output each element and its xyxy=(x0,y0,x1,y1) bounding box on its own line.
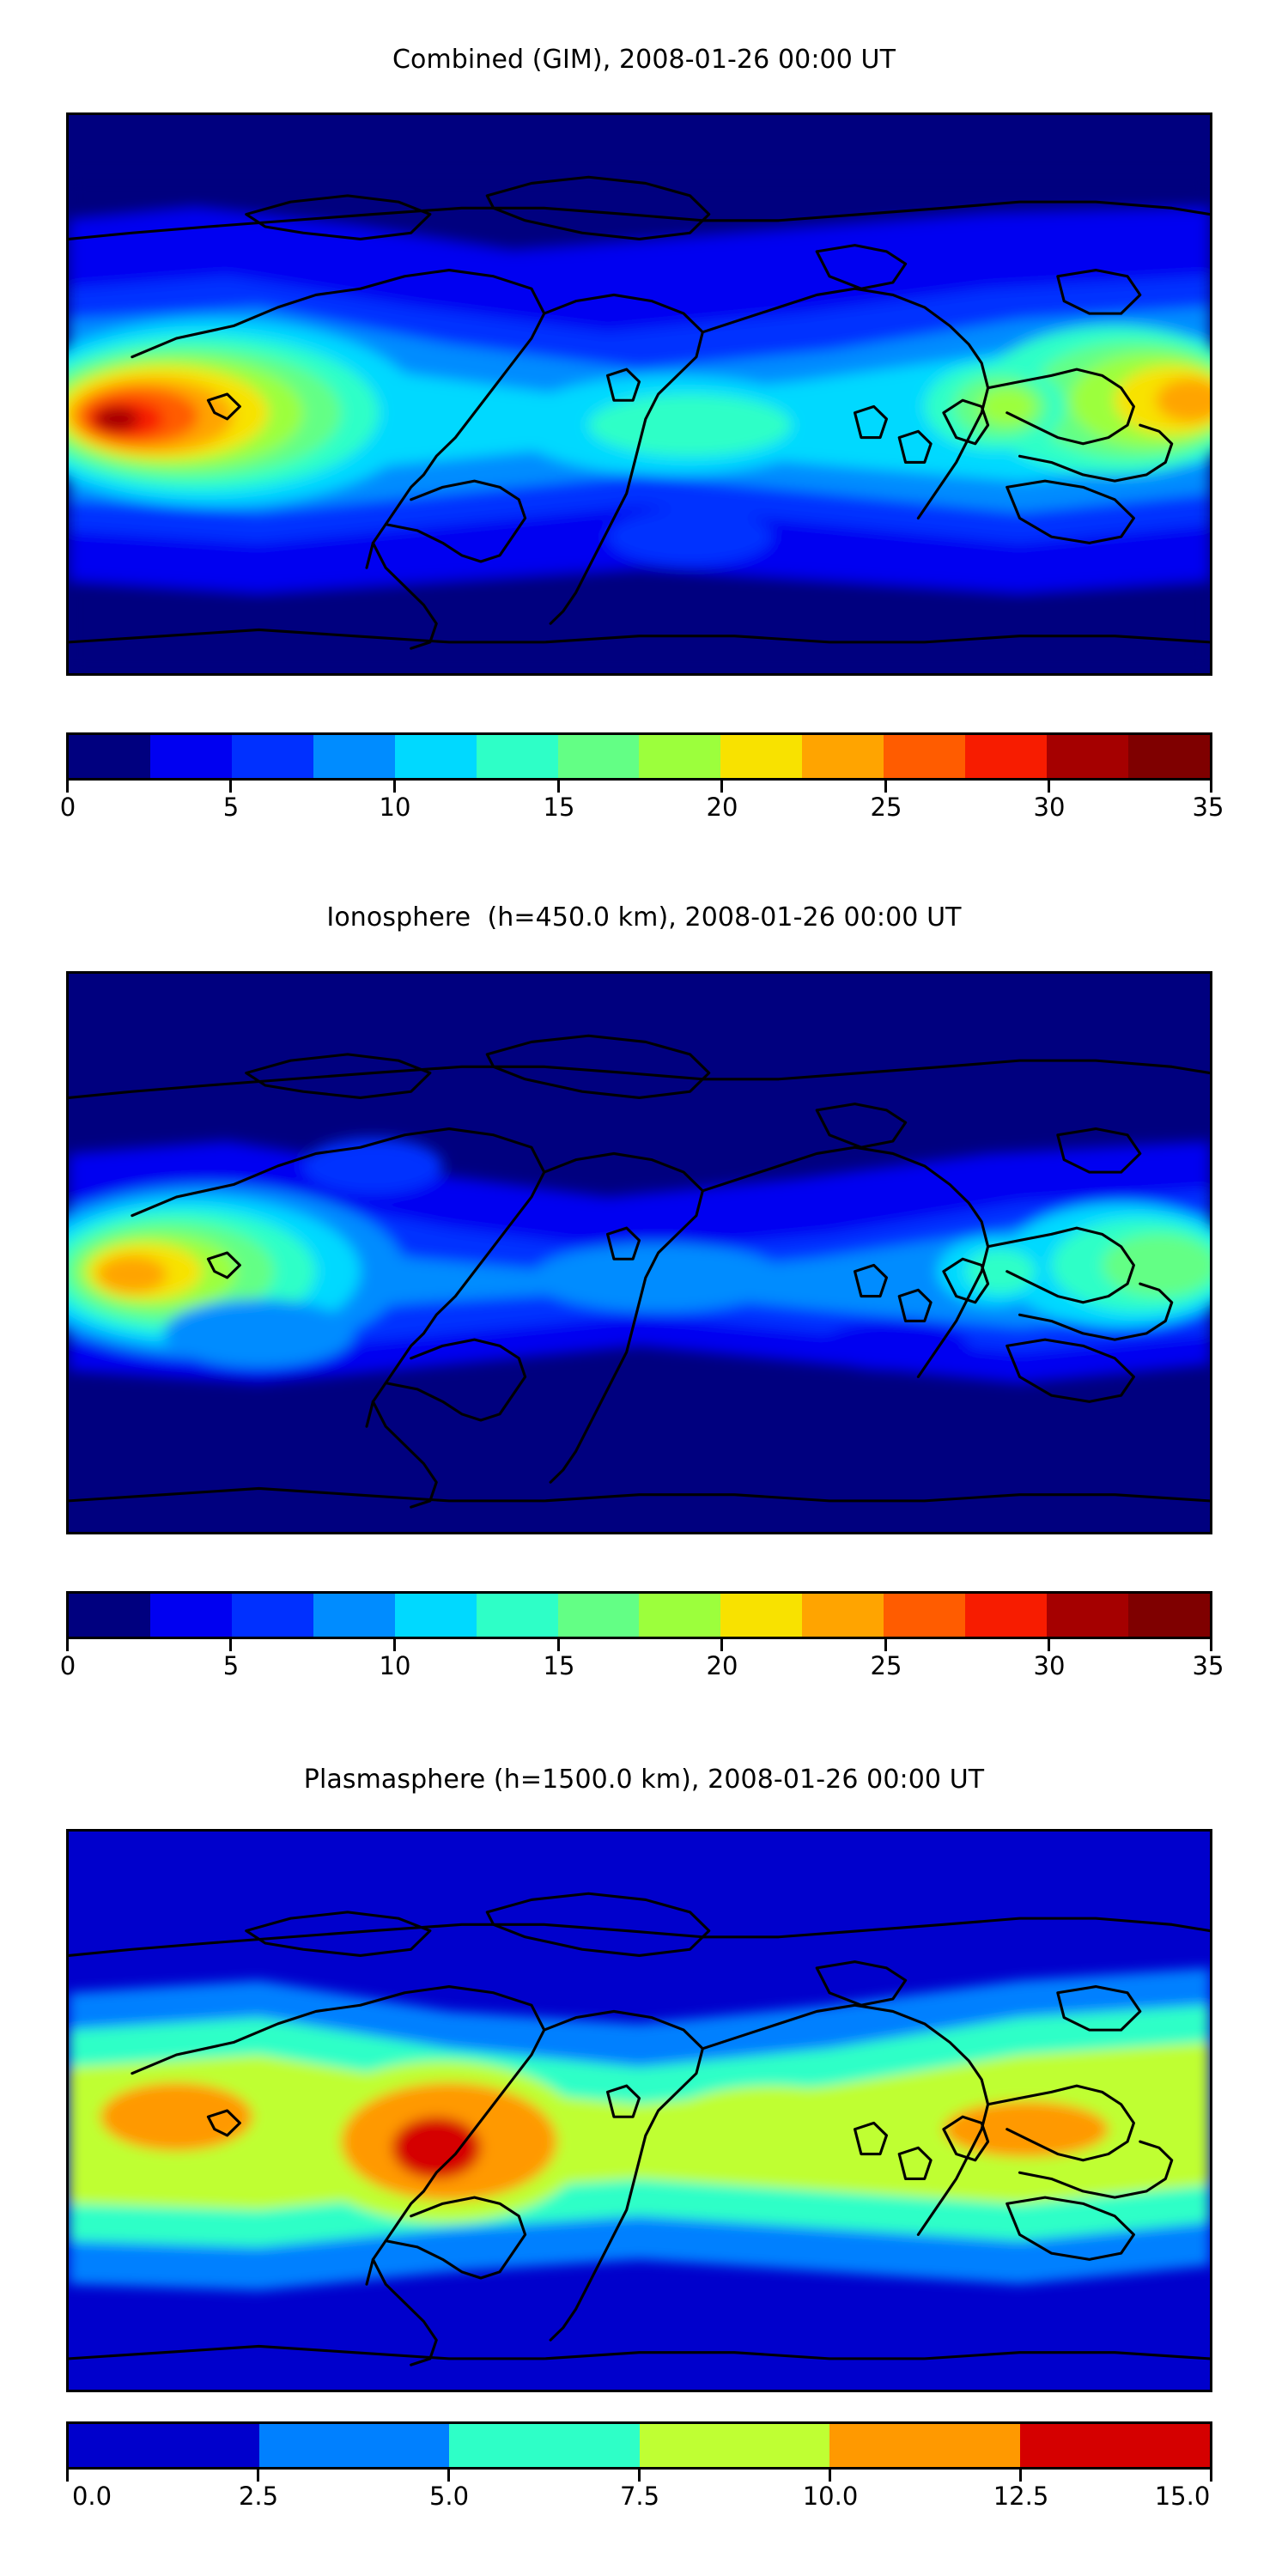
colorbar-swatch xyxy=(558,735,640,778)
colorbar-tick xyxy=(638,2470,641,2482)
colorbar-tick xyxy=(393,781,396,793)
colorbar-tick xyxy=(257,2470,259,2482)
colorbar-tick xyxy=(1048,781,1050,793)
colorbar-ticks-combined-gim xyxy=(66,781,1212,793)
colorbar-tick-label: 15 xyxy=(544,793,575,822)
colorbar-labels-plasmasphere: 0.0 2.5 5.0 7.5 10.0 12.5 15.0 xyxy=(66,2482,1212,2516)
colorbar-swatch xyxy=(1020,2424,1211,2467)
colorbar-tick-label: 7.5 xyxy=(620,2482,659,2511)
colorbar-tick-label: 20 xyxy=(707,793,738,822)
colorbar-tick-label: 25 xyxy=(871,1651,902,1680)
colorbar-swatch xyxy=(965,735,1047,778)
colorbar-labels-combined-gim: 0 5 10 15 20 25 30 35 xyxy=(66,793,1212,827)
panel-title-combined-gim: Combined (GIM), 2008-01-26 00:00 UT xyxy=(0,45,1288,75)
colorbar-tick-label: 5 xyxy=(223,793,239,822)
colorbar-tick xyxy=(720,781,723,793)
colorbar-swatch xyxy=(313,735,395,778)
map-canvas-ionosphere xyxy=(69,974,1210,1532)
colorbar-swatch xyxy=(477,735,558,778)
panel-ionosphere: Ionosphere (h=450.0 km), 2008-01-26 00:0… xyxy=(0,859,1288,1726)
colorbar-swatch xyxy=(395,1594,477,1637)
colorbar-swatch xyxy=(259,2424,450,2467)
colorbar-tick-label: 0 xyxy=(60,793,76,822)
colorbar-swatch xyxy=(802,1594,884,1637)
colorbar-tick xyxy=(66,781,69,793)
panel-title-ionosphere: Ionosphere (h=450.0 km), 2008-01-26 00:0… xyxy=(0,902,1288,933)
colorbar-swatch xyxy=(1047,735,1128,778)
colorbar-swatch xyxy=(1128,1594,1210,1637)
colorbar-tick xyxy=(66,2470,69,2482)
map-combined-gim xyxy=(66,112,1212,676)
colorbar-tick xyxy=(829,2470,831,2482)
colorbar-tick-label: 0 xyxy=(60,1651,76,1680)
colorbar-swatch xyxy=(232,1594,313,1637)
colorbar-swatch xyxy=(640,2424,830,2467)
colorbar-tick xyxy=(720,1639,723,1651)
colorbar-swatch xyxy=(802,735,884,778)
colorbar-swatch xyxy=(1047,1594,1128,1637)
tec-maps-figure: Combined (GIM), 2008-01-26 00:00 UT xyxy=(0,0,1288,2576)
colorbar-swatches-plasmasphere xyxy=(66,2421,1212,2470)
colorbar-swatch xyxy=(150,735,232,778)
colorbar-tick xyxy=(557,1639,560,1651)
colorbar-swatch xyxy=(639,735,720,778)
colorbar-tick-label: 35 xyxy=(1193,793,1224,822)
colorbar-tick xyxy=(557,781,560,793)
colorbar-tick xyxy=(1210,1639,1212,1651)
colorbar-tick xyxy=(447,2470,450,2482)
colorbar-swatch xyxy=(884,1594,965,1637)
colorbar-swatch xyxy=(232,735,313,778)
colorbar-tick xyxy=(1210,781,1212,793)
colorbar-tick xyxy=(393,1639,396,1651)
map-ionosphere xyxy=(66,971,1212,1534)
colorbar-tick-label: 30 xyxy=(1034,1651,1066,1680)
colorbar-swatch xyxy=(477,1594,558,1637)
colorbar-tick-label: 5 xyxy=(223,1651,239,1680)
colorbar-tick xyxy=(1019,2470,1022,2482)
colorbar-swatch xyxy=(69,735,150,778)
colorbar-tick-label: 5.0 xyxy=(429,2482,469,2511)
colorbar-swatch xyxy=(69,2424,259,2467)
colorbar-tick xyxy=(1210,2470,1212,2482)
panel-combined-gim: Combined (GIM), 2008-01-26 00:00 UT xyxy=(0,0,1288,859)
map-canvas-combined-gim xyxy=(69,115,1210,673)
colorbar-tick-label: 10 xyxy=(380,1651,411,1680)
colorbar-labels-ionosphere: 0 5 10 15 20 25 30 35 xyxy=(66,1651,1212,1686)
colorbar-tick xyxy=(1048,1639,1050,1651)
colorbar-tick-label: 20 xyxy=(707,1651,738,1680)
colorbar-tick xyxy=(229,1639,232,1651)
colorbar-tick-label: 30 xyxy=(1034,793,1066,822)
colorbar-tick xyxy=(884,781,887,793)
colorbar-swatch xyxy=(395,735,477,778)
map-plasmasphere xyxy=(66,1829,1212,2392)
colorbar-swatches-combined-gim xyxy=(66,732,1212,781)
colorbar-tick-label: 0.0 xyxy=(72,2482,112,2511)
colorbar-tick-label: 15.0 xyxy=(1155,2482,1211,2511)
colorbar-swatch xyxy=(884,735,965,778)
colorbar-swatch xyxy=(150,1594,232,1637)
colorbar-tick xyxy=(229,781,232,793)
colorbar-swatch xyxy=(829,2424,1020,2467)
colorbar-ticks-plasmasphere xyxy=(66,2470,1212,2482)
colorbar-swatches-ionosphere xyxy=(66,1591,1212,1639)
colorbar-swatch xyxy=(313,1594,395,1637)
colorbar-swatch xyxy=(720,1594,802,1637)
colorbar-swatch xyxy=(449,2424,640,2467)
colorbar-tick-label: 10 xyxy=(380,793,411,822)
colorbar-swatch xyxy=(965,1594,1047,1637)
colorbar-swatch xyxy=(720,735,802,778)
colorbar-swatch xyxy=(639,1594,720,1637)
colorbar-tick-label: 25 xyxy=(871,793,902,822)
panel-title-plasmasphere: Plasmasphere (h=1500.0 km), 2008-01-26 0… xyxy=(0,1765,1288,1795)
colorbar-swatch xyxy=(1128,735,1210,778)
colorbar-tick-label: 15 xyxy=(544,1651,575,1680)
map-canvas-plasmasphere xyxy=(69,1832,1210,2390)
colorbar-tick xyxy=(884,1639,887,1651)
panel-plasmasphere: Plasmasphere (h=1500.0 km), 2008-01-26 0… xyxy=(0,1726,1288,2576)
colorbar-ticks-ionosphere xyxy=(66,1639,1212,1651)
colorbar-tick xyxy=(66,1639,69,1651)
colorbar-tick-label: 10.0 xyxy=(803,2482,859,2511)
colorbar-swatch xyxy=(69,1594,150,1637)
colorbar-tick-label: 35 xyxy=(1193,1651,1224,1680)
colorbar-swatch xyxy=(558,1594,640,1637)
colorbar-tick-label: 12.5 xyxy=(993,2482,1049,2511)
colorbar-tick-label: 2.5 xyxy=(239,2482,278,2511)
